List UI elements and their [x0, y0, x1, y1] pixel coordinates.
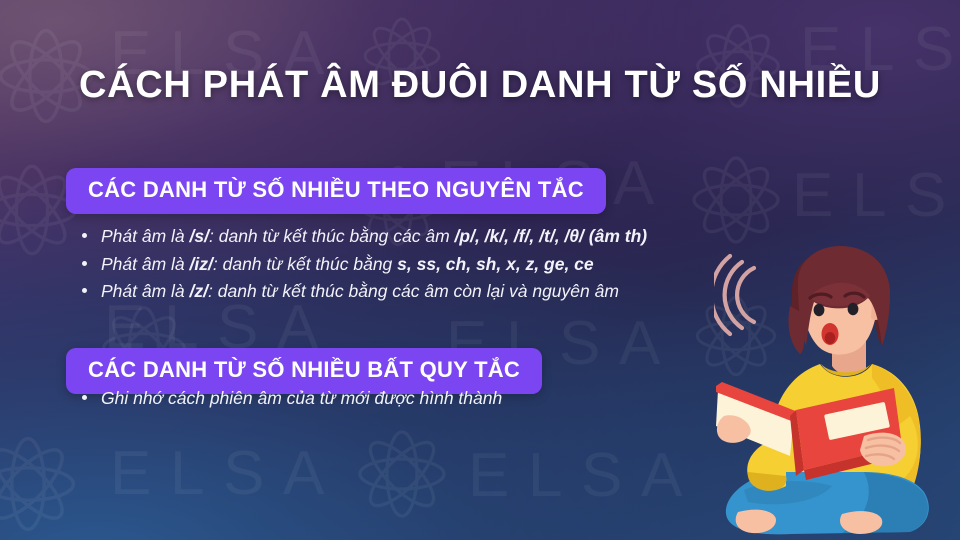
text-part: Phát âm là	[101, 281, 190, 301]
elsa-flower-logo-icon	[686, 150, 786, 250]
eye-left	[814, 304, 825, 316]
bullet-dot-icon	[82, 395, 87, 400]
woman-reading-book-illustration	[714, 240, 960, 540]
bullet-list-irregular: Ghi nhớ cách phiên âm của từ mới được hì…	[70, 390, 502, 408]
list-item-text: Phát âm là /s/: danh từ kết thúc bằng cá…	[101, 228, 647, 246]
text-part: Phát âm là	[101, 226, 190, 246]
list-item: Phát âm là /z/: danh từ kết thúc bằng cá…	[70, 283, 647, 301]
text-emphasis: /p/, /k/, /f/, /t/, /θ/ (âm th)	[455, 226, 648, 246]
hair-side	[788, 306, 804, 354]
text-emphasis: /z/	[190, 281, 208, 301]
foot-right	[840, 511, 882, 534]
list-item-text: Phát âm là /z/: danh từ kết thúc bằng cá…	[101, 283, 619, 301]
watermark-text: ELSA	[792, 160, 960, 231]
page-title: CÁCH PHÁT ÂM ĐUÔI DANH TỪ SỐ NHIỀU	[0, 64, 960, 107]
list-item: Phát âm là /iz/: danh từ kết thúc bằng s…	[70, 256, 647, 274]
slide-canvas: ELSA ELSA ELSA ELSA ELSA ELSA ELSA ELSA …	[0, 0, 960, 540]
text-part: : danh từ kết thúc bằng các âm còn lại v…	[208, 281, 619, 301]
elsa-flower-logo-icon	[352, 424, 452, 524]
watermark-text: ELSA	[110, 438, 343, 509]
watermark-text: ELSA	[468, 440, 701, 511]
list-item: Phát âm là /s/: danh từ kết thúc bằng cá…	[70, 228, 647, 246]
text-emphasis: s, ss, ch, sh, x, z, ge, ce	[397, 254, 593, 274]
bullet-dot-icon	[82, 261, 87, 266]
bullet-list-rules: Phát âm là /s/: danh từ kết thúc bằng cá…	[70, 228, 647, 301]
text-part: Phát âm là	[101, 254, 190, 274]
eye-right	[848, 303, 859, 315]
bullet-dot-icon	[82, 233, 87, 238]
bullet-dot-icon	[82, 288, 87, 293]
text-emphasis: /iz/	[190, 254, 213, 274]
text-part: : danh từ kết thúc bằng các âm	[209, 226, 455, 246]
list-item-text: Phát âm là /iz/: danh từ kết thúc bằng s…	[101, 256, 594, 274]
mouth-inner	[825, 332, 835, 344]
section-heading-badge-rules: CÁC DANH TỪ SỐ NHIỀU THEO NGUYÊN TẮC	[66, 168, 606, 214]
text-part: : danh từ kết thúc bằng	[213, 254, 397, 274]
text-part: Ghi nhớ cách phiên âm của từ mới được hì…	[101, 388, 502, 408]
list-item-text: Ghi nhớ cách phiên âm của từ mới được hì…	[101, 390, 502, 408]
sound-wave-icon	[714, 256, 754, 334]
list-item: Ghi nhớ cách phiên âm của từ mới được hì…	[70, 390, 502, 408]
text-emphasis: /s/	[190, 226, 209, 246]
elsa-flower-logo-icon	[0, 430, 82, 538]
